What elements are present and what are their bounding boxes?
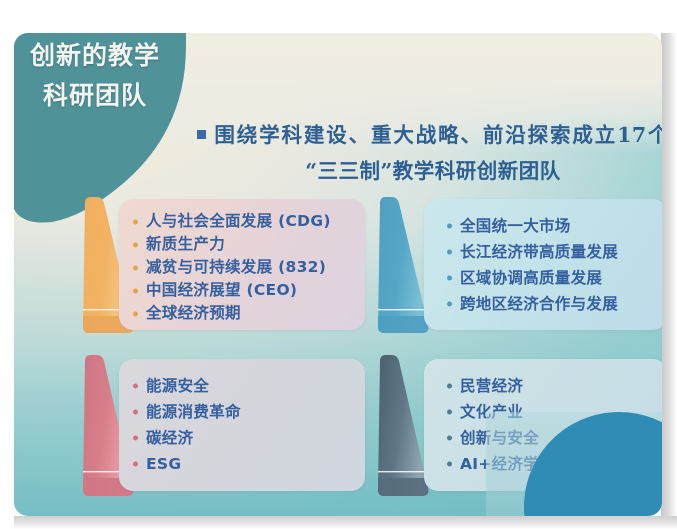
- topic-list-item-label: 长江经济带高质量发展: [460, 243, 618, 261]
- topic-list-item-label: 新质生产力: [146, 235, 225, 253]
- topic-list-item: 能源安全: [146, 373, 365, 399]
- topic-list-item-label: ESG: [146, 455, 181, 473]
- bullet-dot-icon: [447, 410, 452, 415]
- slide-frame-shadow-bottom: [14, 516, 677, 529]
- bullet-dot-icon: [447, 224, 452, 229]
- topic-list-item: 碳经济: [146, 425, 365, 451]
- bullet-dot-icon: [133, 219, 138, 224]
- bullet-dot-icon: [133, 384, 138, 389]
- topic-list-item-label: 全球经济预期: [146, 304, 241, 322]
- topic-list-item-label: 区域协调高质量发展: [460, 269, 602, 287]
- slide-heading: 围绕学科建设、重大战略、前沿探索成立17个“三三制”教学科研创新团队: [197, 117, 662, 189]
- topic-list-item: 区域协调高质量发展: [460, 265, 662, 291]
- topic-list-item: 中国经济展望 (CEO): [146, 279, 365, 302]
- bullet-dot-icon: [133, 242, 138, 247]
- bullet-dot-icon: [133, 410, 138, 415]
- topic-list-item-label: 中国经济展望 (CEO): [146, 281, 297, 299]
- presentation-slide: 创新的教学 科研团队 围绕学科建设、重大战略、前沿探索成立17个“三三制”教学科…: [14, 33, 662, 516]
- topic-group-top-right: 全国统一大市场长江经济带高质量发展区域协调高质量发展跨地区经济合作与发展: [372, 197, 662, 340]
- bullet-dot-icon: [447, 384, 452, 389]
- bullet-dot-icon: [447, 250, 452, 255]
- bullet-dot-icon: [133, 288, 138, 293]
- topic-group-top-left: 人与社会全面发展 (CDG)新质生产力减贫与可持续发展 (832)中国经济展望 …: [77, 197, 367, 340]
- bullet-dot-icon: [133, 462, 138, 467]
- bullet-dot-icon: [133, 436, 138, 441]
- topic-list-top-right: 全国统一大市场长江经济带高质量发展区域协调高质量发展跨地区经济合作与发展: [424, 199, 662, 317]
- topic-list-item: 跨地区经济合作与发展: [460, 291, 662, 317]
- topic-list-item: 能源消费革命: [146, 399, 365, 425]
- topic-list-item-label: 跨地区经济合作与发展: [460, 295, 618, 313]
- topic-list-bottom-left: 能源安全能源消费革命碳经济ESG: [119, 359, 365, 477]
- title-badge-text: 创新的教学 科研团队: [14, 36, 190, 116]
- topic-list-item-label: 能源消费革命: [146, 403, 241, 421]
- topic-card-top-left[interactable]: 人与社会全面发展 (CDG)新质生产力减贫与可持续发展 (832)中国经济展望 …: [119, 199, 365, 330]
- topic-list-item-label: 民营经济: [460, 377, 523, 395]
- slide-frame-shadow-right: [661, 33, 677, 529]
- heading-bullet-square-icon: [197, 130, 206, 139]
- bullet-dot-icon: [133, 311, 138, 316]
- topic-list-item-label: 减贫与可持续发展 (832): [146, 258, 326, 276]
- topic-list-item: 新质生产力: [146, 233, 365, 256]
- screenshot-stage: 创新的教学 科研团队 围绕学科建设、重大战略、前沿探索成立17个“三三制”教学科…: [0, 0, 677, 529]
- topic-list-item: 全球经济预期: [146, 302, 365, 325]
- topic-list-item: 民营经济: [460, 373, 662, 399]
- bullet-dot-icon: [447, 276, 452, 281]
- heading-text: 围绕学科建设、重大战略、前沿探索成立17个“三三制”教学科研创新团队: [213, 123, 662, 183]
- topic-list-item-label: 能源安全: [146, 377, 209, 395]
- topic-list-item-label: 人与社会全面发展 (CDG): [146, 212, 331, 230]
- topic-list-item: 长江经济带高质量发展: [460, 239, 662, 265]
- topic-list-top-left: 人与社会全面发展 (CDG)新质生产力减贫与可持续发展 (832)中国经济展望 …: [119, 199, 365, 325]
- bullet-dot-icon: [447, 302, 452, 307]
- topic-list-item: 减贫与可持续发展 (832): [146, 256, 365, 279]
- topic-list-item: 人与社会全面发展 (CDG): [146, 210, 365, 233]
- topic-list-item-label: 碳经济: [146, 429, 193, 447]
- bullet-dot-icon: [447, 462, 452, 467]
- topic-list-item: ESG: [146, 451, 365, 477]
- topic-list-item-label: 全国统一大市场: [460, 217, 571, 235]
- topic-list-item: 全国统一大市场: [460, 213, 662, 239]
- bullet-dot-icon: [447, 436, 452, 441]
- topic-card-bottom-left[interactable]: 能源安全能源消费革命碳经济ESG: [119, 359, 365, 491]
- topic-card-top-right[interactable]: 全国统一大市场长江经济带高质量发展区域协调高质量发展跨地区经济合作与发展: [424, 199, 662, 330]
- bullet-dot-icon: [133, 265, 138, 270]
- topic-group-bottom-left: 能源安全能源消费革命碳经济ESG: [77, 355, 367, 503]
